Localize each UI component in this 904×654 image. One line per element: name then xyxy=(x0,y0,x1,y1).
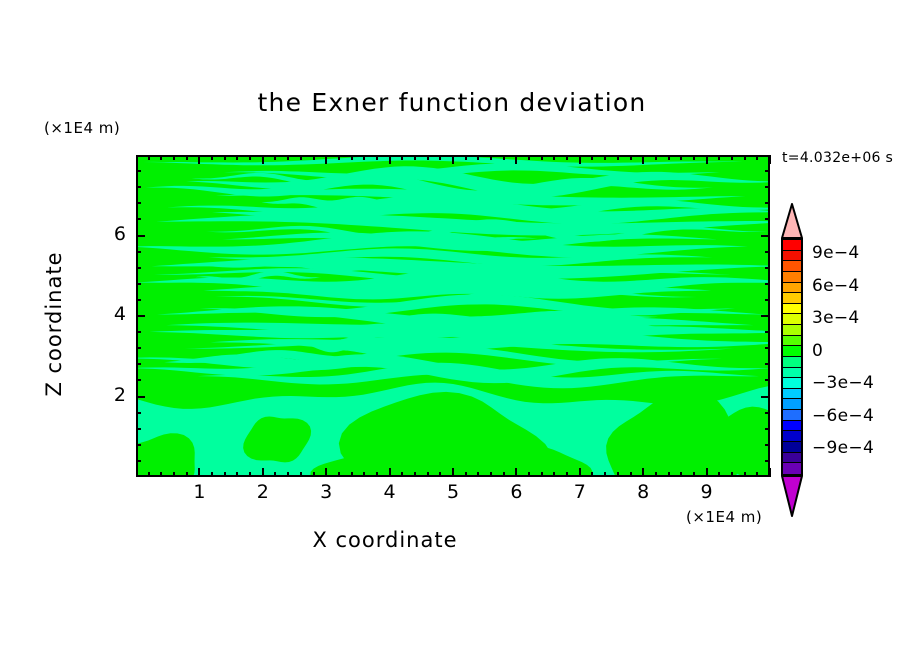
colorbar-band xyxy=(783,368,801,379)
colorbar-band xyxy=(783,378,801,389)
axis-tick xyxy=(249,472,251,477)
axis-tick xyxy=(351,155,353,160)
axis-tick xyxy=(211,155,213,160)
axis-tick xyxy=(756,155,758,160)
axis-tick xyxy=(765,331,770,333)
axis-tick xyxy=(136,283,141,285)
colorbar-band xyxy=(783,325,801,336)
axis-tick xyxy=(136,331,141,333)
axis-tick xyxy=(173,472,175,477)
axis-tick xyxy=(465,472,467,477)
axis-tick xyxy=(136,412,141,414)
axis-tick xyxy=(765,428,770,430)
axis-tick xyxy=(363,472,365,477)
axis-tick xyxy=(503,155,505,160)
colorbar-band xyxy=(783,261,801,272)
axis-tick xyxy=(401,155,403,160)
colorbar[interactable] xyxy=(781,238,803,476)
axis-tick xyxy=(325,155,327,164)
timestamp-label: t=4.032e+06 s xyxy=(782,150,893,166)
axis-tick xyxy=(224,472,226,477)
axis-tick xyxy=(604,472,606,477)
axis-tick xyxy=(452,468,454,477)
axis-tick xyxy=(731,155,733,160)
axis-tick xyxy=(186,155,188,160)
axis-tick xyxy=(338,472,340,477)
axis-tick xyxy=(765,283,770,285)
axis-tick xyxy=(136,202,141,204)
axis-tick xyxy=(668,472,670,477)
axis-tick xyxy=(761,235,770,237)
axis-tick xyxy=(765,251,770,253)
axis-tick xyxy=(765,379,770,381)
axis-tick xyxy=(765,460,770,462)
axis-tick xyxy=(693,155,695,160)
axis-tick xyxy=(136,379,141,381)
axis-tick xyxy=(313,155,315,160)
axis-tick xyxy=(680,472,682,477)
axis-tick xyxy=(136,315,145,317)
axis-tick xyxy=(136,235,145,237)
axis-tick xyxy=(414,472,416,477)
axis-tick xyxy=(566,155,568,160)
axis-tick xyxy=(490,472,492,477)
axis-tick xyxy=(756,472,758,477)
colorbar-band xyxy=(783,453,801,464)
colorbar-band xyxy=(783,251,801,262)
colorbar-band xyxy=(783,421,801,432)
axis-tick xyxy=(300,472,302,477)
axis-tick xyxy=(287,472,289,477)
axis-tick xyxy=(718,472,720,477)
axis-tick xyxy=(439,472,441,477)
axis-tick xyxy=(211,472,213,477)
axis-tick xyxy=(136,251,141,253)
y-tick-label: 4 xyxy=(104,303,126,325)
axis-tick xyxy=(136,460,141,462)
axis-tick xyxy=(224,155,226,160)
colorbar-band xyxy=(783,442,801,453)
axis-tick xyxy=(655,155,657,160)
axis-tick xyxy=(765,299,770,301)
colorbar-tick-label: −3e−4 xyxy=(812,373,874,393)
axis-tick xyxy=(566,472,568,477)
y-tick-label: 2 xyxy=(104,384,126,406)
axis-tick xyxy=(136,428,141,430)
colorbar-band xyxy=(783,304,801,315)
colorbar-band xyxy=(783,346,801,357)
axis-tick xyxy=(376,472,378,477)
axis-tick xyxy=(680,155,682,160)
axis-tick xyxy=(579,155,581,164)
axis-tick xyxy=(477,472,479,477)
x-tick-label: 6 xyxy=(501,481,531,503)
axis-tick xyxy=(389,155,391,164)
axis-tick xyxy=(160,472,162,477)
colorbar-band xyxy=(783,336,801,347)
axis-tick xyxy=(262,468,264,477)
x-axis-title: X coordinate xyxy=(0,528,770,552)
axis-tick xyxy=(765,186,770,188)
colorbar-band xyxy=(783,272,801,283)
axis-tick xyxy=(706,155,708,164)
axis-tick xyxy=(148,155,150,160)
axis-tick xyxy=(528,472,530,477)
x-tick-label: 1 xyxy=(184,481,214,503)
axis-tick xyxy=(236,472,238,477)
axis-tick xyxy=(642,155,644,164)
x-axis-unit-label: (×1E4 m) xyxy=(686,508,762,526)
axis-tick xyxy=(541,155,543,160)
axis-tick xyxy=(452,155,454,164)
colorbar-band xyxy=(783,431,801,442)
colorbar-band xyxy=(783,410,801,421)
axis-tick xyxy=(249,155,251,160)
axis-tick xyxy=(148,472,150,477)
colorbar-band xyxy=(783,240,801,251)
axis-tick xyxy=(528,155,530,160)
axis-tick xyxy=(731,472,733,477)
axis-tick xyxy=(427,472,429,477)
axis-tick xyxy=(541,472,543,477)
colorbar-bottom-cap xyxy=(781,475,803,517)
axis-tick xyxy=(338,155,340,160)
axis-tick xyxy=(490,155,492,160)
axis-tick xyxy=(136,396,145,398)
colorbar-tick-label: 9e−4 xyxy=(812,243,860,263)
axis-tick xyxy=(160,155,162,160)
axis-tick xyxy=(427,155,429,160)
axis-tick xyxy=(300,155,302,160)
axis-tick xyxy=(706,468,708,477)
y-axis-unit-label: (×1E4 m) xyxy=(44,119,120,137)
colorbar-band xyxy=(783,293,801,304)
axis-tick xyxy=(591,472,593,477)
x-tick-label: 8 xyxy=(628,481,658,503)
axis-tick xyxy=(351,472,353,477)
contour-plot-area xyxy=(136,155,770,477)
colorbar-top-cap xyxy=(781,203,803,239)
axis-tick xyxy=(465,155,467,160)
axis-tick xyxy=(579,468,581,477)
axis-tick xyxy=(287,155,289,160)
axis-tick xyxy=(604,155,606,160)
axis-tick xyxy=(401,472,403,477)
axis-tick xyxy=(744,155,746,160)
colorbar-tick-label: −6e−4 xyxy=(812,406,874,426)
axis-tick xyxy=(765,202,770,204)
axis-tick xyxy=(198,468,200,477)
axis-tick xyxy=(376,155,378,160)
axis-tick xyxy=(630,155,632,160)
colorbar-band xyxy=(783,389,801,400)
x-tick-label: 4 xyxy=(375,481,405,503)
axis-tick xyxy=(274,472,276,477)
colorbar-band xyxy=(783,357,801,368)
axis-tick xyxy=(136,186,141,188)
axis-tick xyxy=(136,363,141,365)
axis-tick xyxy=(693,472,695,477)
axis-tick xyxy=(274,155,276,160)
axis-tick xyxy=(262,155,264,164)
axis-tick xyxy=(136,267,141,269)
colorbar-tick-label: 0 xyxy=(812,341,823,361)
axis-tick xyxy=(363,155,365,160)
axis-tick xyxy=(718,155,720,160)
axis-tick xyxy=(136,347,141,349)
axis-tick xyxy=(136,218,141,220)
colorbar-tick-label: 3e−4 xyxy=(812,308,860,328)
chart-title: the Exner function deviation xyxy=(0,88,904,117)
x-tick-label: 5 xyxy=(438,481,468,503)
axis-tick xyxy=(186,472,188,477)
axis-tick xyxy=(769,468,771,477)
axis-tick xyxy=(389,468,391,477)
colorbar-tick-label: 6e−4 xyxy=(812,276,860,296)
axis-tick xyxy=(769,155,771,164)
axis-tick xyxy=(761,396,770,398)
colorbar-tick-label: −9e−4 xyxy=(812,438,874,458)
colorbar-band xyxy=(783,463,801,474)
axis-tick xyxy=(668,155,670,160)
axis-tick xyxy=(198,155,200,164)
axis-tick xyxy=(765,444,770,446)
x-tick-label: 2 xyxy=(248,481,278,503)
axis-tick xyxy=(173,155,175,160)
axis-tick xyxy=(765,363,770,365)
axis-tick xyxy=(313,472,315,477)
axis-tick xyxy=(136,170,141,172)
axis-tick xyxy=(553,155,555,160)
axis-tick xyxy=(617,472,619,477)
x-tick-label: 7 xyxy=(565,481,595,503)
axis-tick xyxy=(515,155,517,164)
axis-tick xyxy=(765,412,770,414)
axis-tick xyxy=(236,155,238,160)
axis-tick xyxy=(765,170,770,172)
colorbar-band xyxy=(783,314,801,325)
axis-tick xyxy=(744,472,746,477)
axis-tick xyxy=(642,468,644,477)
axis-tick xyxy=(617,155,619,160)
axis-tick xyxy=(765,267,770,269)
colorbar-band xyxy=(783,283,801,294)
y-tick-label: 6 xyxy=(104,223,126,245)
axis-tick xyxy=(136,444,141,446)
axis-tick xyxy=(136,299,141,301)
axis-tick xyxy=(477,155,479,160)
y-axis-title: Z coordinate xyxy=(42,234,66,414)
axis-tick xyxy=(591,155,593,160)
axis-tick xyxy=(503,472,505,477)
x-tick-label: 9 xyxy=(692,481,722,503)
contour-field xyxy=(138,157,768,475)
axis-tick xyxy=(630,472,632,477)
x-tick-label: 3 xyxy=(311,481,341,503)
axis-tick xyxy=(553,472,555,477)
axis-tick xyxy=(325,468,327,477)
axis-tick xyxy=(765,218,770,220)
axis-tick xyxy=(765,347,770,349)
axis-tick xyxy=(515,468,517,477)
axis-tick xyxy=(414,155,416,160)
axis-tick xyxy=(655,472,657,477)
colorbar-band xyxy=(783,399,801,410)
axis-tick xyxy=(439,155,441,160)
axis-tick xyxy=(761,315,770,317)
